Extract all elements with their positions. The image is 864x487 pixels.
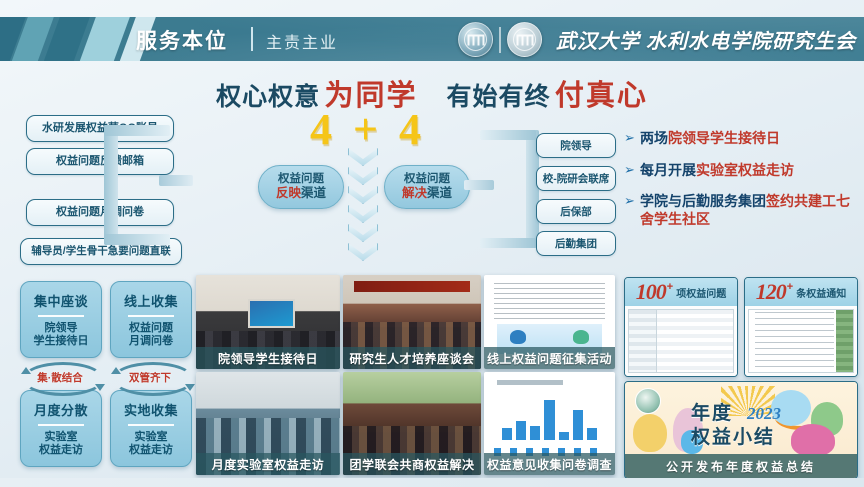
oval-line1: 权益问题 xyxy=(278,173,324,186)
card-title: 集中座谈 xyxy=(34,291,88,310)
chart-bar xyxy=(516,421,526,440)
bullet-text-red: 实验室权益走访 xyxy=(696,162,794,178)
stat-document-preview xyxy=(745,306,857,376)
arrow-right-icon: ➢ xyxy=(624,130,640,146)
bottom-band xyxy=(0,478,864,487)
stat-number: 120 xyxy=(756,279,786,305)
decorative-blob xyxy=(791,424,835,454)
slide-header: 服务本位 主责主业 武汉大学 水利水电学院研究生会 xyxy=(0,17,864,61)
bullet-item: ➢ 学院与后勤服务集团签约共建工七舍学生社区 xyxy=(624,193,860,228)
arrow-right-icon: ➢ xyxy=(624,162,640,178)
method-card-onsite-collection[interactable]: 实地收集 实验室 权益走访 xyxy=(110,390,192,467)
oval-line2-tail: 渠道 xyxy=(301,186,326,200)
presentation-slide: 服务本位 主责主业 武汉大学 水利水电学院研究生会 权心权意 为同学 有始有终 … xyxy=(0,0,864,487)
card-title: 线上收集 xyxy=(124,291,178,310)
oval-line1: 权益问题 xyxy=(404,173,450,186)
bracket-vertical-bar xyxy=(104,125,118,245)
header-emblems xyxy=(458,22,542,57)
card-subtitle: 实验室 权益走访 xyxy=(129,431,173,457)
photo-card[interactable]: 院领导学生接待日 xyxy=(196,275,340,369)
photo-caption: 线上权益问题征集活动 xyxy=(484,347,615,369)
dept-box-college-leaders[interactable]: 院领导 xyxy=(536,133,616,158)
chart-title-bar xyxy=(497,380,563,385)
bullet-text: 两场院领导学生接待日 xyxy=(640,130,780,148)
decorative-blob xyxy=(633,414,667,452)
cycle-label-combined: 集·散结合 xyxy=(20,362,100,392)
method-card-online-collection[interactable]: 线上收集 权益问题 月调问卷 xyxy=(110,281,192,358)
header-title: 服务本位 xyxy=(136,25,228,55)
yearly-caption: 公开发布年度权益总结 xyxy=(625,454,857,478)
slogan-part2-red: 付真心 xyxy=(555,80,648,112)
university-emblem-secondary-icon xyxy=(507,22,542,57)
bracket-bottom-bar xyxy=(104,234,170,245)
yearly-summary-card[interactable]: 年度 2023 权益小结 公开发布年度权益总结 xyxy=(624,381,858,479)
header-organization: 武汉大学 水利水电学院研究生会 xyxy=(556,25,856,54)
dept-box-logistics-group[interactable]: 后勤集团 xyxy=(536,231,616,256)
right-bracket-connector xyxy=(480,130,540,248)
stat-number: 100 xyxy=(636,279,666,305)
dept-box-logistics-dept[interactable]: 后保部 xyxy=(536,199,616,224)
bullet-text: 学院与后勤服务集团签约共建工七舍学生社区 xyxy=(640,193,860,228)
table-right-column xyxy=(836,310,853,372)
card-subtitle: 权益问题 月调问卷 xyxy=(129,322,173,348)
emblem-divider xyxy=(499,27,501,53)
stat-panel-issues[interactable]: 100 + 项权益问题 xyxy=(624,277,738,377)
yearly-title-line2: 权益小结 xyxy=(691,422,775,449)
cycle-label-text: 双管齐下 xyxy=(129,370,171,385)
notice-list-table xyxy=(748,309,854,373)
chart-bar xyxy=(530,426,540,440)
method-card-monthly-dispersed[interactable]: 月度分散 实验室 权益走访 xyxy=(20,390,102,467)
photo-caption: 团学联会共商权益解决 xyxy=(343,453,481,475)
chart-bar xyxy=(587,428,597,440)
issue-log-table xyxy=(628,309,734,373)
bullet-text-dark: 学院与后勤服务集团 xyxy=(640,193,766,209)
stat-panel-notices[interactable]: 120 + 条权益通知 xyxy=(744,277,858,377)
stat-document-preview xyxy=(625,306,737,376)
cycle-label-dual-track: 双管齐下 xyxy=(110,362,190,392)
bracket-stem xyxy=(464,180,494,190)
bullet-item: ➢ 每月开展实验室权益走访 xyxy=(624,162,860,180)
oval-resolve-channel[interactable]: 权益问题 解决渠道 xyxy=(384,165,470,209)
stat-unit-label: 项权益问题 xyxy=(676,285,726,300)
slogan-part2-dark: 有始有终 xyxy=(446,83,550,111)
stat-unit-label: 条权益通知 xyxy=(796,285,846,300)
yearly-title-line1: 年度 xyxy=(691,398,733,425)
left-bracket-connector xyxy=(104,125,174,245)
chart-bar xyxy=(502,428,512,440)
emblem-gate-glyph xyxy=(516,35,533,46)
method-card-group-discussion[interactable]: 集中座谈 院领导 学生接待日 xyxy=(20,281,102,358)
photo-caption: 研究生人才培养座谈会 xyxy=(343,347,481,369)
chevron-down-icon xyxy=(348,186,378,204)
card-title: 实地收集 xyxy=(124,400,178,419)
chevron-down-icon xyxy=(348,243,378,261)
card-rule xyxy=(128,424,174,426)
university-emblem-icon xyxy=(458,22,493,57)
chart-bar xyxy=(573,410,583,440)
table-text-lines xyxy=(755,312,834,369)
chart-bars xyxy=(502,399,596,440)
oval-report-channel[interactable]: 权益问题 反映渠道 xyxy=(258,165,344,209)
bullet-text-dark: 每月开展 xyxy=(640,162,696,178)
bracket-stem xyxy=(159,175,193,186)
school-logo-icon xyxy=(635,388,661,414)
chevron-arrow-stack xyxy=(345,148,381,266)
chevron-down-icon xyxy=(348,205,378,223)
card-rule xyxy=(128,315,174,317)
cycle-label-text: 集·散结合 xyxy=(37,370,83,385)
card-rule xyxy=(38,424,84,426)
chevron-down-icon xyxy=(348,148,378,166)
chevron-down-icon xyxy=(348,224,378,242)
oval-line2: 解决渠道 xyxy=(402,186,452,200)
photo-caption: 院领导学生接待日 xyxy=(196,347,340,369)
chevron-down-icon xyxy=(348,167,378,185)
stat-badge: 120 + 条权益通知 xyxy=(745,278,857,307)
photo-card[interactable]: 权益意见收集问卷调查 xyxy=(484,372,615,475)
yearly-year: 2023 xyxy=(747,404,781,424)
oval-line2-highlight: 反映 xyxy=(276,186,301,200)
yearly-summary-artwork: 年度 2023 权益小结 xyxy=(625,382,857,454)
emblem-gate-glyph xyxy=(467,35,484,46)
stat-badge: 100 + 项权益问题 xyxy=(625,278,737,307)
photo-card[interactable]: 团学联会共商权益解决 xyxy=(343,372,481,475)
photo-card[interactable]: 研究生人才培养座谈会 xyxy=(343,275,481,369)
card-rule xyxy=(38,315,84,317)
photo-card[interactable]: 月度实验室权益走访 xyxy=(196,372,340,475)
photo-card[interactable]: 线上权益问题征集活动 xyxy=(484,275,615,369)
bullet-text: 每月开展实验室权益走访 xyxy=(640,162,794,180)
photo-caption: 权益意见收集问卷调查 xyxy=(484,453,615,475)
header-divider xyxy=(251,27,253,51)
stat-plus-sign: + xyxy=(787,281,793,293)
photo-caption: 月度实验室权益走访 xyxy=(196,453,340,475)
card-subtitle: 实验室 权益走访 xyxy=(39,431,83,457)
oval-line2-tail: 渠道 xyxy=(427,186,452,200)
chart-bar xyxy=(559,432,569,440)
bracket-bottom-bar xyxy=(480,238,536,248)
header-subtitle: 主责主业 xyxy=(266,29,338,53)
bullet-text-red: 院领导学生接待日 xyxy=(668,130,780,146)
card-subtitle: 院领导 学生接待日 xyxy=(34,322,89,348)
bullet-item: ➢ 两场院领导学生接待日 xyxy=(624,130,860,148)
dept-box-joint-council[interactable]: 校-院研会联席 xyxy=(536,166,616,191)
arrow-right-icon: ➢ xyxy=(624,193,640,209)
chart-bar xyxy=(544,400,554,440)
bracket-top-bar xyxy=(104,125,170,136)
oval-line2: 反映渠道 xyxy=(276,186,326,200)
oval-line2-highlight: 解决 xyxy=(402,186,427,200)
bracket-top-bar xyxy=(480,130,536,140)
bullet-text-dark: 两场 xyxy=(640,130,668,146)
stat-plus-sign: + xyxy=(667,281,673,293)
document-text-lines xyxy=(494,283,604,321)
achievement-bullet-list: ➢ 两场院领导学生接待日 ➢ 每月开展实验室权益走访 ➢ 学院与后勤服务集团签约… xyxy=(624,130,860,242)
table-left-column xyxy=(629,310,657,372)
card-title: 月度分散 xyxy=(34,400,88,419)
